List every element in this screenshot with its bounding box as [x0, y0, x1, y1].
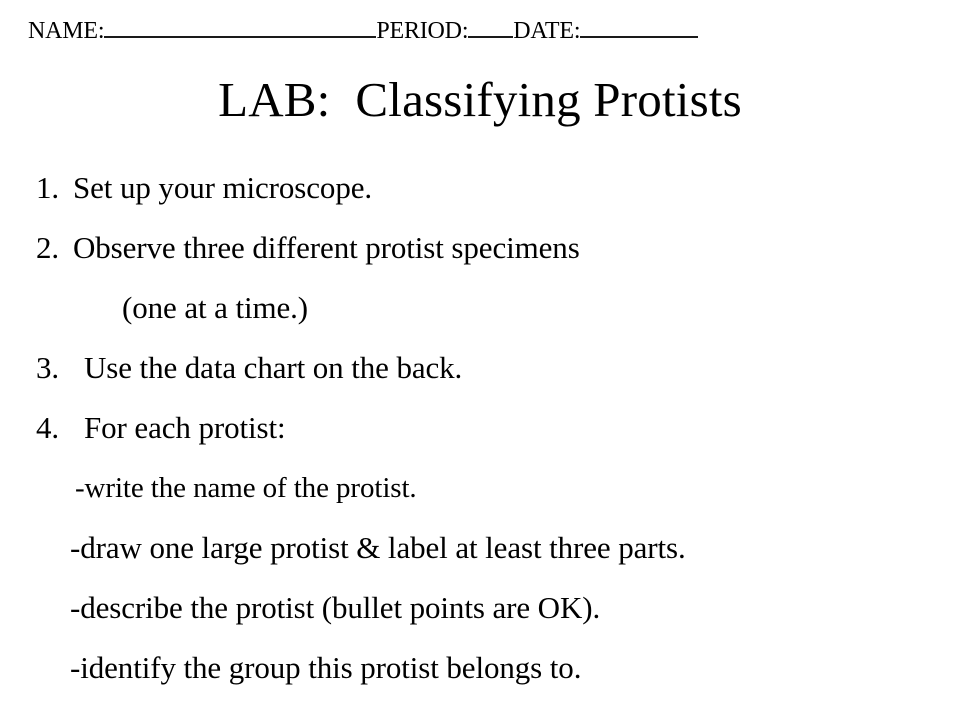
period-label: PERIOD:: [376, 17, 468, 45]
list-item-step-1: 1.Set up your microscope.: [0, 158, 960, 218]
list-item-step-4: 4.For each protist:: [0, 398, 960, 458]
step-text: (one at a time.): [122, 290, 308, 325]
step-text: For each protist:: [84, 410, 285, 445]
date-blank-field[interactable]: [580, 17, 698, 38]
name-label: NAME:: [28, 17, 104, 45]
list-item-step-2: 2.Observe three different protist specim…: [0, 218, 960, 278]
sub-item-identify-group: -identify the group this protist belongs…: [0, 638, 960, 698]
sub-item-describe-protist: -describe the protist (bullet points are…: [0, 578, 960, 638]
step-text: Set up your microscope.: [73, 170, 372, 205]
sub-item-write-name: -write the name of the protist.: [0, 458, 960, 518]
step-number: 1.: [36, 158, 73, 218]
list-item-step-2-continuation: (one at a time.): [0, 278, 960, 338]
step-text: Use the data chart on the back.: [84, 350, 462, 385]
lab-worksheet-page: NAME: PERIOD: DATE: LAB: Classifying Pro…: [0, 0, 960, 720]
sub-item-draw-protist: -draw one large protist & label at least…: [0, 518, 960, 578]
period-blank-field[interactable]: [468, 17, 513, 38]
step-number: 2.: [36, 218, 73, 278]
name-blank-field[interactable]: [104, 17, 376, 38]
list-item-step-3: 3.Use the data chart on the back.: [0, 338, 960, 398]
step-text: Observe three different protist specimen…: [73, 230, 580, 265]
date-label: DATE:: [513, 17, 580, 45]
instructions-list: 1.Set up your microscope. 2.Observe thre…: [0, 158, 960, 698]
step-number: 4.: [36, 398, 84, 458]
page-title: LAB: Classifying Protists: [0, 72, 960, 128]
step-number: 3.: [36, 338, 84, 398]
worksheet-header: NAME: PERIOD: DATE:: [28, 17, 932, 47]
